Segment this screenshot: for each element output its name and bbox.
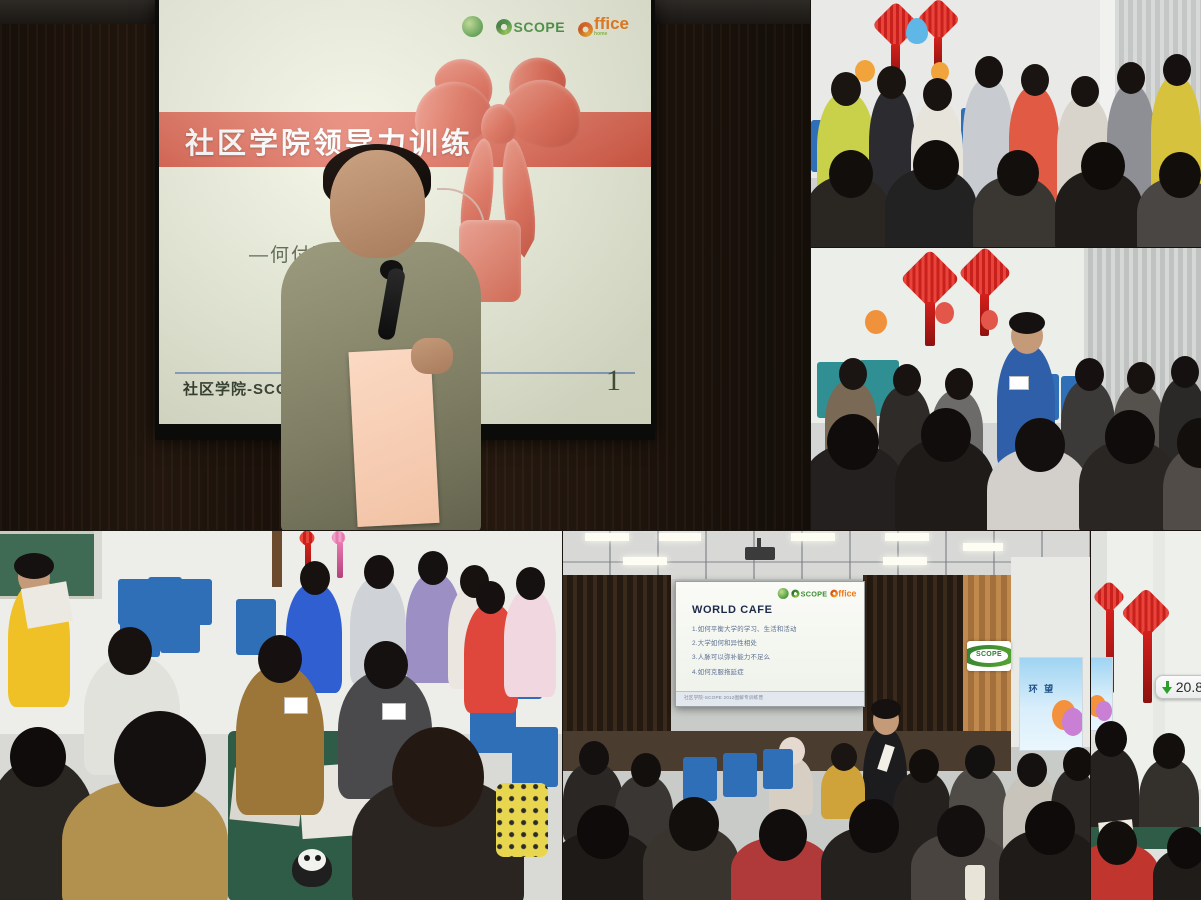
leaf-logo-icon [777,588,788,599]
office-logo-text: ffice [594,16,629,31]
name-badge [284,697,308,714]
balloon-decoration [981,310,998,330]
download-size-value: 20.8 [1176,679,1201,695]
chinese-knot-decoration [903,256,957,348]
office-logo-text: ffice [838,589,856,597]
balloon-decoration [935,302,954,324]
world-cafe-bullet-list: 1.如何平衡大学的学习、生活和活动 2.大学如何和异性相处 3.人脉可以弥补能力… [692,624,854,681]
chinese-knot-decoration [330,531,350,581]
scope-banner-text: SCOPE [967,651,1011,658]
bullet-item: 3.人脉可以弥补能力不足么 [692,652,854,661]
scope-swirl-icon [791,589,799,597]
bullet-item: 4.如何克服拖延症 [692,667,854,676]
leaf-logo-icon [462,16,483,37]
balloon-decoration [906,18,928,44]
office-logo-subtext: home [594,31,629,37]
thermos-bottle [965,865,985,900]
office-logo: ffice home [578,16,629,37]
scope-banner: SCOPE [967,641,1011,671]
slide-logo-row: SCOPE ffice [777,588,856,599]
panel-classroom-audience [811,248,1201,530]
newspaper-sheet [21,581,73,628]
poster-text: 环 望 [1029,682,1056,695]
name-badge [1009,376,1029,390]
slide-footer-bar: 社区学院-SCOPE 2012图解专训练营 [676,691,864,706]
balloon-decoration [865,310,887,334]
panel-group-discussion [811,0,1201,247]
panel-wall-decorations [1091,531,1201,900]
bullet-item: 2.大学如何和异性相处 [692,638,854,647]
speaker-hand [411,338,453,374]
office-logo: ffice [829,589,856,597]
scope-swirl-icon [496,19,512,35]
photo-collage: SCOPE ffice home [0,0,1201,900]
scope-logo-text: SCOPE [514,19,566,35]
slide-logo-row: SCOPE ffice home [462,16,629,37]
ceiling-projector [745,547,775,560]
panel-workshop-tables [0,531,562,900]
office-swirl-icon [829,590,837,598]
projection-screen: SCOPE ffice WORLD CAFE 1.如何平衡大学的学习、生活和活动… [675,581,865,707]
panel-speaker-presentation: SCOPE ffice home [0,0,810,530]
speaker-figure [275,150,490,530]
world-cafe-title: WORLD CAFE [692,604,773,616]
speaker-head [330,150,425,258]
slide-page-number: 1 [606,364,621,398]
download-size-badge[interactable]: 20.8 [1155,675,1201,699]
wall-poster [1091,657,1113,731]
student-tan-jacket [236,665,324,815]
download-arrow-icon [1162,681,1173,694]
scope-logo: SCOPE [791,589,827,597]
scope-logo-text: SCOPE [800,589,827,597]
office-swirl-icon [578,22,593,37]
bullet-item: 1.如何平衡大学的学习、生活和活动 [692,624,854,633]
wall-poster: 环 望 [1019,657,1083,751]
scope-logo: SCOPE [496,19,566,35]
speaker-paper-sheet [348,348,439,527]
name-badge [382,703,406,720]
panel-lecture-hall: SCOPE ffice WORLD CAFE 1.如何平衡大学的学习、生活和活动… [563,531,1090,900]
slide-footer-text: 社区学院-SCOPE 2012图解专训练营 [684,695,763,701]
